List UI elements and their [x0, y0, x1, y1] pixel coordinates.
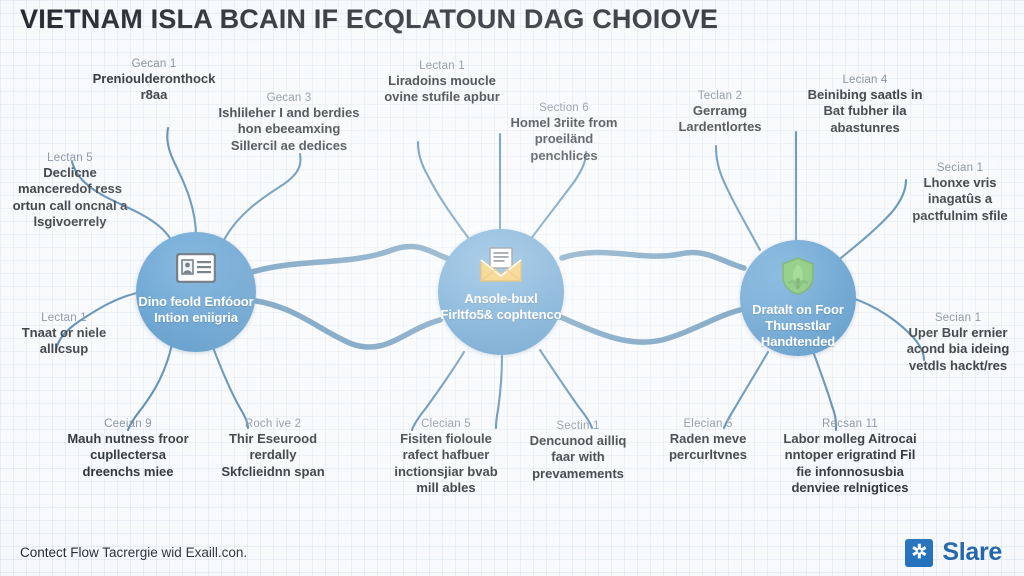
branch-text: Fisiten fioloule rafect hafbuer inctions…: [382, 431, 510, 497]
branch-label: Lecian 4 Beinibing saatls in Bat fubher …: [802, 74, 928, 136]
hub-node-3[interactable]: Dratalt on Foor Thunsstlar Handtended: [740, 240, 856, 356]
branch-section: Ceeian 9: [62, 418, 194, 430]
branch-text: Labor molleg Aitrocai nntoper erigratind…: [780, 431, 920, 497]
hub-node-1[interactable]: Dino feold Enfóoor Intion eniigria: [136, 232, 256, 352]
branch-section: Lectan 1: [2, 312, 126, 324]
branch-section: Gecan 1: [92, 58, 216, 70]
branch-label: Sectin 1 Dencunod ailliq faar with preva…: [516, 420, 640, 482]
branch-text: Dencunod ailliq faar with prevamements: [516, 433, 640, 482]
branch-section: Lectan 5: [6, 152, 134, 164]
branch-text: Liradoins moucle ovine stufile apbur: [376, 73, 508, 106]
branch-label: Gecan 1 Prenioulderonthock r8aa: [92, 58, 216, 104]
hub-node-3-label: Dratalt on Foor Thunsstlar Handtended: [742, 302, 853, 350]
branch-section: Teclan 2: [656, 90, 784, 102]
hub-node-2[interactable]: Ansole-buxl Firltfo5& cophtenco: [438, 229, 564, 355]
branch-label: Ceeian 9 Mauh nutness froor cupllectersa…: [62, 418, 194, 480]
branch-section: Secian 1: [898, 162, 1022, 174]
branch-text: Thir Eseurood rerdally Skfclieidnn span: [214, 431, 332, 480]
brand-name: Slare: [942, 538, 1002, 567]
branch-section: Roch ive 2: [214, 418, 332, 430]
branch-label: Secian 1 Lhonxe vris inagatûs a pactfuln…: [898, 162, 1022, 224]
branch-label: Elecian 5 Raden meve percurltvnes: [650, 418, 766, 464]
open-envelope-icon: [478, 245, 524, 285]
branch-label: Lectan 1 Liradoins moucle ovine stufile …: [376, 60, 508, 106]
branch-label: Roch ive 2 Thir Eseurood rerdally Skfcli…: [214, 418, 332, 480]
brand-logo: ✲ Slare: [905, 538, 1002, 567]
footer-note: Contect Flow Tacrergie wid Exaill.con.: [20, 545, 247, 560]
branch-section: Secian 1: [894, 312, 1022, 324]
branch-text: Gerramg Lardentlortes: [656, 103, 784, 136]
branch-section: Gecan 3: [214, 92, 364, 104]
branch-section: Section 6: [500, 102, 628, 114]
branch-text: Tnaat or niele alllcsup: [2, 325, 126, 358]
branch-text: Declicne manceredof ress ortun call oncn…: [6, 165, 134, 231]
branch-section: Lecian 4: [802, 74, 928, 86]
branch-section: Clecian 5: [382, 418, 510, 430]
branch-section: Lectan 1: [376, 60, 508, 72]
id-card-icon: [173, 248, 219, 288]
branch-text: Ishlileher I and berdies hon ebeeamxing …: [214, 105, 364, 154]
branch-text: Beinibing saatls in Bat fubher ila abast…: [802, 87, 928, 136]
branch-section: Elecian 5: [650, 418, 766, 430]
green-shield-icon: [775, 256, 821, 296]
branch-label: Lectan 5 Declicne manceredof ress ortun …: [6, 152, 134, 231]
asterisk-icon: ✲: [905, 539, 933, 567]
branch-label: Clecian 5 Fisiten fioloule rafect hafbue…: [382, 418, 510, 497]
branch-label: Section 6 Homel 3riite from proeiländ pe…: [500, 102, 628, 164]
branch-text: Uper Bulr ernier acond bia ideing vetdls…: [894, 325, 1022, 374]
branch-text: Mauh nutness froor cupllectersa dreenchs…: [62, 431, 194, 480]
branch-text: Prenioulderonthock r8aa: [92, 71, 216, 104]
page-title: VIETNAM ISLA BCAIN IF ECQLATOUN DAG CHOI…: [20, 4, 1000, 44]
branch-label: Teclan 2 Gerramg Lardentlortes: [656, 90, 784, 136]
branch-text: Homel 3riite from proeiländ penchlices: [500, 115, 628, 164]
branch-label: Gecan 3 Ishlileher I and berdies hon ebe…: [214, 92, 364, 154]
branch-text: Raden meve percurltvnes: [650, 431, 766, 464]
branch-section: Sectin 1: [516, 420, 640, 432]
branch-section: Recsan 11: [780, 418, 920, 430]
branch-label: Lectan 1 Tnaat or niele alllcsup: [2, 312, 126, 358]
branch-label: Secian 1 Uper Bulr ernier acond bia idei…: [894, 312, 1022, 374]
branch-text: Lhonxe vris inagatûs a pactfulnim sfile: [898, 175, 1022, 224]
hub-node-1-label: Dino feold Enfóoor Intion eniigria: [138, 294, 253, 326]
hub-node-2-label: Ansole-buxl Firltfo5& cophtenco: [441, 291, 562, 323]
branch-label: Recsan 11 Labor molleg Aitrocai nntoper …: [780, 418, 920, 497]
